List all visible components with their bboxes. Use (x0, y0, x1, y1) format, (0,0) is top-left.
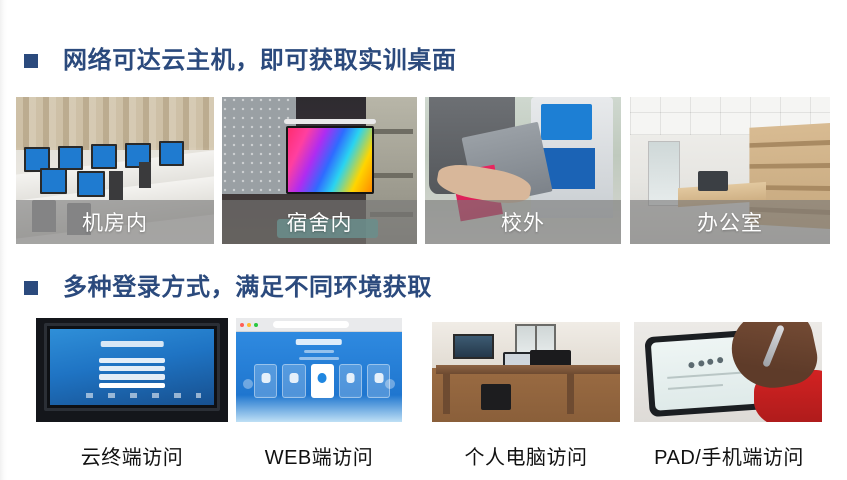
monitor-bezel (44, 323, 221, 410)
section-1-heading: 网络可达云主机，即可获取实训桌面 (24, 44, 457, 78)
photo-office-room: 办公室 (630, 97, 830, 244)
photo-cloud-terminal-login (36, 318, 228, 422)
tile-caption: 宿舍内 (287, 207, 353, 237)
login-screen (50, 329, 215, 404)
photo-tablet-stylus (634, 322, 822, 422)
photo-tile-personal-computer[interactable] (432, 322, 620, 422)
lab-monitor (91, 144, 117, 169)
wooden-desk (436, 365, 620, 374)
photo-tile-dormitory[interactable]: 宿舍内 (222, 97, 417, 244)
app-card (254, 364, 277, 398)
section-1-heading-text: 网络可达云主机，即可获取实训桌面 (63, 49, 457, 73)
bullet-square-icon (24, 281, 38, 295)
photo-web-browser-portal (236, 318, 402, 422)
lab-monitor (58, 146, 84, 171)
tile-caption: 机房内 (82, 207, 148, 237)
desk-monitor (453, 334, 494, 359)
tile-caption-pad-mobile: PAD/手机端访问 (626, 441, 832, 470)
lab-pc-tower (109, 171, 123, 200)
dorm-colorful-monitor (286, 126, 374, 194)
photo-home-office-desk (432, 322, 620, 422)
lab-monitor (40, 168, 68, 194)
caption-band: 宿舍内 (222, 200, 417, 244)
dorm-pegboard (222, 97, 296, 194)
carousel-prev-icon (243, 379, 253, 389)
app-card (367, 364, 390, 398)
office-laptop (698, 171, 728, 192)
login-username-field (99, 358, 165, 363)
login-submit-button (99, 383, 165, 388)
browser-url-bar (273, 321, 349, 328)
portal-body (236, 332, 402, 422)
dorm-light-bar (284, 119, 376, 124)
page-left-edge (0, 0, 7, 480)
login-password-field (99, 366, 165, 371)
desktop-taskbar (86, 393, 201, 398)
pc-tower-box (481, 384, 511, 410)
photo-dorm-desk: 宿舍内 (222, 97, 417, 244)
photo-tile-web-portal[interactable] (236, 318, 402, 422)
photo-computer-lab: 机房内 (16, 97, 214, 244)
photo-tile-cloud-terminal[interactable] (36, 318, 228, 422)
browser-chrome (236, 318, 402, 332)
desk-leg (443, 374, 450, 414)
kiosk-screen (541, 104, 592, 140)
portal-subtitle (304, 350, 334, 354)
portal-logo-icon (296, 339, 342, 345)
login-extra-field (99, 374, 165, 379)
lab-pc-tower (139, 162, 151, 188)
section-2-heading: 多种登录方式，满足不同环境获取 (24, 271, 432, 305)
lab-monitor (77, 171, 105, 197)
wood-floor (432, 374, 620, 422)
photo-tile-classroom[interactable]: 机房内 (16, 97, 214, 244)
app-card (282, 364, 305, 398)
tile-caption: 校外 (501, 207, 545, 237)
app-card (339, 364, 362, 398)
lab-monitor (159, 141, 185, 166)
photo-tile-pad-mobile[interactable] (634, 322, 822, 422)
app-card-selected (311, 364, 334, 398)
caption-band: 办公室 (630, 200, 830, 244)
section-2-heading-text: 多种登录方式，满足不同环境获取 (63, 276, 432, 300)
caption-band: 校外 (425, 200, 621, 244)
tile-caption: 办公室 (697, 207, 763, 237)
tile-caption-personal-computer: 个人电脑访问 (426, 441, 626, 470)
lab-curtain (16, 97, 214, 150)
cloud-logo-icon (101, 341, 164, 346)
window-control-dots (240, 323, 258, 327)
photo-off-campus-kiosk: 校外 (425, 97, 621, 244)
tile-caption-web-portal: WEB端访问 (226, 441, 412, 470)
photo-tile-off-campus[interactable]: 校外 (425, 97, 621, 244)
portal-section-label (299, 357, 339, 361)
photo-tile-office[interactable]: 办公室 (630, 97, 830, 244)
desk-leg (567, 374, 574, 414)
bullet-square-icon (24, 54, 38, 68)
slide-canvas: 网络可达云主机，即可获取实训桌面 机房内 (0, 0, 847, 480)
tile-caption-cloud-terminal: 云终端访问 (36, 441, 228, 470)
office-window (648, 141, 680, 206)
caption-band: 机房内 (16, 200, 214, 244)
